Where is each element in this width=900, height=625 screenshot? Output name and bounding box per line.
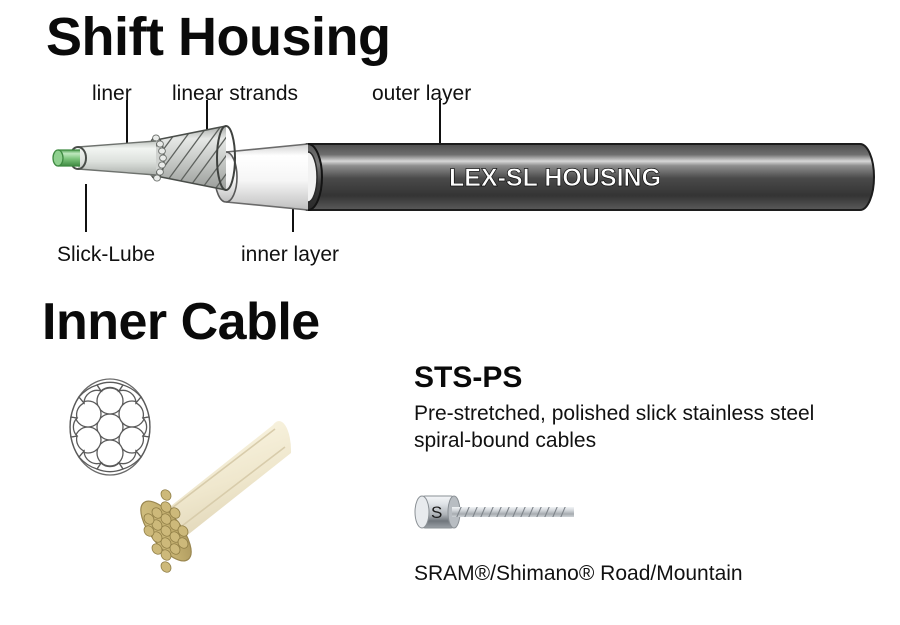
compatibility-caption: SRAM®/Shimano® Road/Mountain xyxy=(414,562,743,586)
diagram-page: Shift Housing liner linear strands outer… xyxy=(0,0,900,625)
housing-inner-layer xyxy=(215,144,308,210)
cable-ferrule-illustration: S xyxy=(412,488,592,538)
inner-cable-3d-illustration xyxy=(105,415,335,590)
housing-cutaway-illustration: LEX-SL HOUSING xyxy=(50,100,880,245)
spec-description: Pre-stretched, polished slick stainless … xyxy=(414,400,844,454)
page-title-shift-housing: Shift Housing xyxy=(46,6,390,68)
callout-label-slick-lube: Slick-Lube xyxy=(57,243,155,267)
housing-product-label: LEX-SL HOUSING xyxy=(449,164,661,192)
housing-slick-lube-core xyxy=(53,150,80,166)
ferrule-wire xyxy=(452,505,574,519)
spec-title: STS-PS xyxy=(414,361,522,395)
housing-liner xyxy=(70,141,156,175)
page-title-inner-cable: Inner Cable xyxy=(42,292,320,352)
callout-label-inner-layer: inner layer xyxy=(241,243,339,267)
ferrule-mark-label: S xyxy=(431,503,442,522)
